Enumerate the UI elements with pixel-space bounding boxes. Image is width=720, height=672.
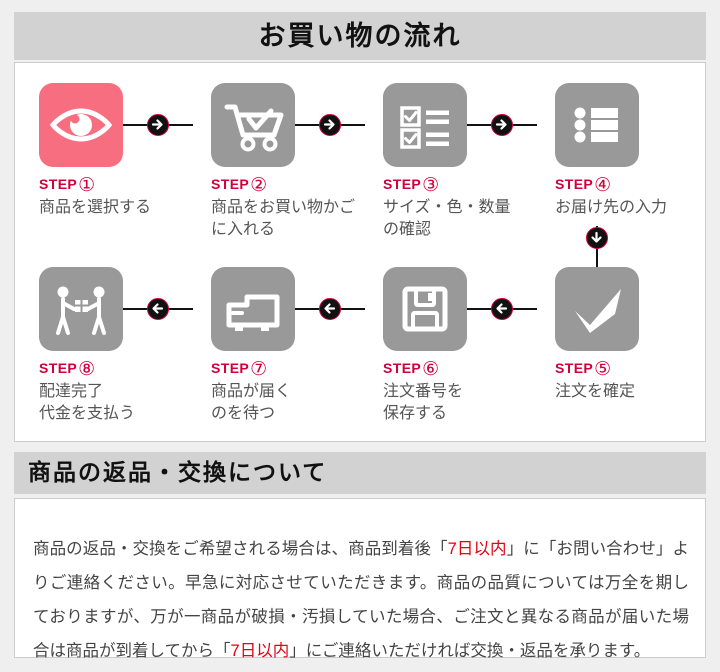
flow-step-3-label: STEP③ サイズ・色・数量 の確認 xyxy=(383,175,535,241)
flow-step-1[interactable]: STEP① 商品を選択する xyxy=(21,71,193,247)
returns-panel: 商品の返品・交換をご希望される場合は、商品到着後「7日以内」に「お問い合わせ」よ… xyxy=(14,498,706,658)
step-kicker: STEP⑥ xyxy=(383,359,535,379)
step-kicker: STEP① xyxy=(39,175,191,195)
step-description: 注文を確定 xyxy=(555,381,707,403)
delivery-truck-icon xyxy=(211,267,295,351)
flow-step-4[interactable]: STEP④ お届け先の入力 xyxy=(537,71,709,247)
step-number: ⑦ xyxy=(250,359,267,380)
checkmark-icon xyxy=(555,267,639,351)
flow-step-6[interactable]: STEP⑥ 注文番号を 保存する xyxy=(365,255,537,431)
step-number: ② xyxy=(250,175,267,196)
arrow-left-icon-1 xyxy=(147,298,169,320)
step-kicker-text: STEP xyxy=(555,360,593,376)
flow-step-8-label: STEP⑧ 配達完了 代金を支払う xyxy=(39,359,191,425)
step-number: ⑤ xyxy=(594,359,611,380)
step-kicker: STEP② xyxy=(211,175,363,195)
step-description: 商品を選択する xyxy=(39,197,191,219)
flow-row-bottom: STEP⑧ 配達完了 代金を支払う STEP⑦ xyxy=(15,255,705,431)
step-kicker: STEP⑤ xyxy=(555,359,707,379)
step-number: ① xyxy=(78,175,95,196)
flow-section-title: お買い物の流れ xyxy=(14,12,706,60)
returns-highlight-1: 7日以内 xyxy=(448,540,507,558)
arrow-down-icon-1 xyxy=(586,227,608,249)
returns-policy-text: 商品の返品・交換をご希望される場合は、商品到着後「7日以内」に「お問い合わせ」よ… xyxy=(33,532,689,668)
flow-row-top: STEP① 商品を選択する STEP② xyxy=(15,71,705,247)
step-number: ⑥ xyxy=(422,359,439,380)
flow-step-5-label: STEP⑤ 注文を確定 xyxy=(555,359,707,403)
flow-step-7[interactable]: STEP⑦ 商品が届く のを待つ xyxy=(193,255,365,431)
handover-package-icon xyxy=(39,267,123,351)
step-number: ③ xyxy=(422,175,439,196)
flow-step-6-label: STEP⑥ 注文番号を 保存する xyxy=(383,359,535,425)
step-description: お届け先の入力 xyxy=(555,197,707,219)
flow-step-8[interactable]: STEP⑧ 配達完了 代金を支払う xyxy=(21,255,193,431)
step-kicker-text: STEP xyxy=(211,176,249,192)
eye-icon xyxy=(39,83,123,167)
shopping-flow-page: お買い物の流れ STEP① xyxy=(0,0,720,672)
step-kicker-text: STEP xyxy=(383,176,421,192)
arrow-left-icon-3 xyxy=(491,298,513,320)
step-kicker-text: STEP xyxy=(211,360,249,376)
step-description: 商品が届く のを待つ xyxy=(211,381,363,425)
arrow-right-icon-3 xyxy=(491,114,513,136)
step-number: ④ xyxy=(594,175,611,196)
arrow-left-icon-2 xyxy=(319,298,341,320)
step-kicker-text: STEP xyxy=(39,360,77,376)
flow-step-4-label: STEP④ お届け先の入力 xyxy=(555,175,707,219)
returns-text-part-1: 商品の返品・交換をご希望される場合は、商品到着後「 xyxy=(33,540,448,558)
bullet-list-icon xyxy=(555,83,639,167)
flow-step-1-label: STEP① 商品を選択する xyxy=(39,175,191,219)
step-description: 配達完了 代金を支払う xyxy=(39,381,191,425)
arrow-right-icon-1 xyxy=(147,114,169,136)
returns-text-part-3: 」にご連絡いただければ交換・返品を承ります。 xyxy=(289,642,650,660)
step-description: サイズ・色・数量 の確認 xyxy=(383,197,535,241)
step-kicker: STEP④ xyxy=(555,175,707,195)
step-kicker-text: STEP xyxy=(555,176,593,192)
flow-step-2[interactable]: STEP② 商品をお買い物かご に入れる xyxy=(193,71,365,247)
step-description: 商品をお買い物かご に入れる xyxy=(211,197,363,241)
arrow-right-icon-2 xyxy=(319,114,341,136)
checklist-icon xyxy=(383,83,467,167)
shopping-cart-icon xyxy=(211,83,295,167)
step-kicker-text: STEP xyxy=(39,176,77,192)
step-kicker: STEP⑧ xyxy=(39,359,191,379)
returns-section-title: 商品の返品・交換について xyxy=(14,452,706,494)
flow-step-3[interactable]: STEP③ サイズ・色・数量 の確認 xyxy=(365,71,537,247)
step-kicker: STEP③ xyxy=(383,175,535,195)
flow-step-5[interactable]: STEP⑤ 注文を確定 xyxy=(537,255,709,431)
step-kicker-text: STEP xyxy=(383,360,421,376)
step-kicker: STEP⑦ xyxy=(211,359,363,379)
flow-step-7-label: STEP⑦ 商品が届く のを待つ xyxy=(211,359,363,425)
flow-step-2-label: STEP② 商品をお買い物かご に入れる xyxy=(211,175,363,241)
step-number: ⑧ xyxy=(78,359,95,380)
returns-highlight-2: 7日以内 xyxy=(231,642,290,660)
floppy-save-icon xyxy=(383,267,467,351)
flow-panel: STEP① 商品を選択する STEP② xyxy=(14,62,706,442)
step-description: 注文番号を 保存する xyxy=(383,381,535,425)
